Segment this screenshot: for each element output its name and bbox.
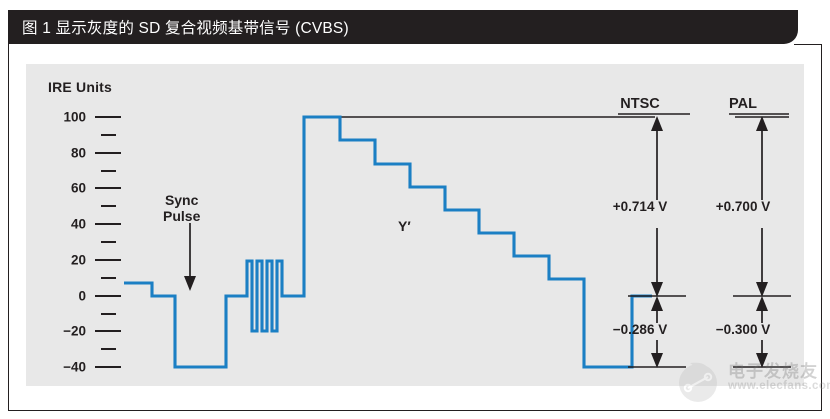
y-tick-major-60 (95, 187, 121, 189)
y-tick-minor-70 (101, 170, 116, 172)
y-tick-minor-50 (101, 205, 116, 207)
y-tick-label-80: 80 (40, 146, 86, 161)
pal-negative-voltage: −0.300 V (702, 322, 784, 337)
pal-positive-voltage: +0.700 V (702, 199, 784, 214)
plot-panel (26, 64, 804, 386)
ntsc-positive-voltage: +0.714 V (596, 199, 684, 214)
y-tick-label-40: 40 (40, 217, 86, 232)
y-tick-minor-neg30 (101, 348, 116, 350)
y-tick-minor-30 (101, 241, 116, 243)
y-tick-major-neg40 (95, 366, 121, 368)
y-axis-title: IRE Units (48, 79, 112, 95)
figure-title-bar: 图 1 显示灰度的 SD 复合视频基带信号 (CVBS) (8, 10, 798, 44)
y-tick-major-100 (95, 116, 121, 118)
y-tick-label-neg20: −20 (40, 324, 86, 339)
y-tick-minor-90 (101, 134, 116, 136)
y-tick-major-0 (95, 295, 121, 297)
ntsc-column-header: NTSC (596, 96, 684, 112)
sync-pulse-label-line2: Pulse (163, 208, 200, 224)
y-tick-minor-10 (101, 277, 116, 279)
sync-pulse-label-line1: Sync (163, 192, 200, 208)
figure-title: 图 1 显示灰度的 SD 复合视频基带信号 (CVBS) (22, 16, 349, 38)
y-tick-major-neg20 (95, 330, 121, 332)
luma-label: Y′ (398, 218, 411, 234)
y-tick-label-60: 60 (40, 181, 86, 196)
y-tick-minor-neg10 (101, 313, 116, 315)
ntsc-negative-voltage: −0.286 V (596, 322, 684, 337)
y-tick-label-100: 100 (40, 110, 86, 125)
y-tick-major-20 (95, 259, 121, 261)
y-tick-label-0: 0 (40, 289, 86, 304)
y-tick-label-neg40: −40 (40, 360, 86, 375)
sync-pulse-label: Sync Pulse (163, 192, 200, 224)
figure-frame-top-edge (794, 44, 822, 45)
pal-column-header: PAL (704, 96, 782, 112)
y-tick-major-80 (95, 152, 121, 154)
y-tick-label-20: 20 (40, 253, 86, 268)
figure-container: 图 1 显示灰度的 SD 复合视频基带信号 (CVBS) IRE Units 1… (0, 0, 830, 419)
y-tick-major-40 (95, 223, 121, 225)
